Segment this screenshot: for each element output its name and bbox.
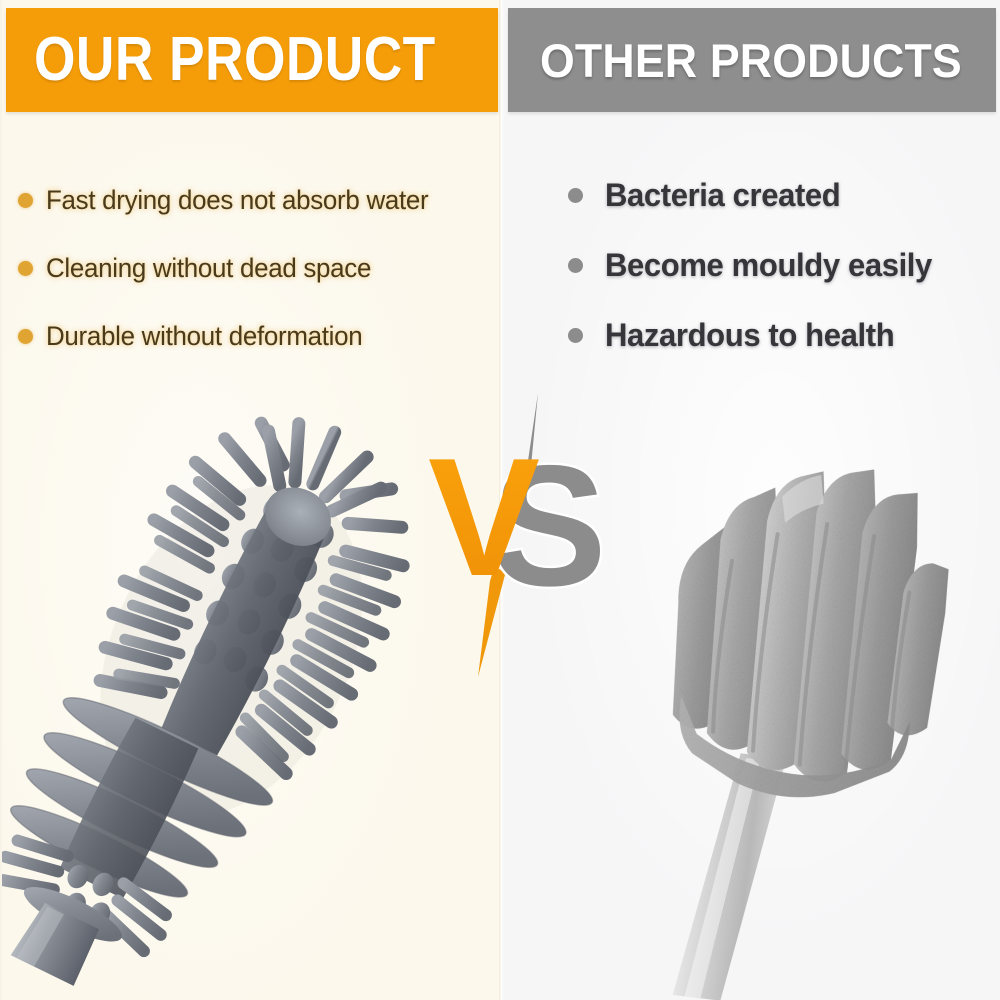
drawback-item: Bacteria created — [568, 160, 988, 230]
drawback-label: Hazardous to health — [605, 317, 894, 354]
other-products-title: OTHER PRODUCTS — [540, 37, 962, 84]
bullet-dot-icon — [18, 193, 33, 208]
feature-item: Cleaning without dead space — [18, 234, 498, 302]
drawback-item: Become mouldy easily — [568, 230, 988, 300]
bullet-dot-icon — [568, 258, 583, 273]
comparison-infographic: S V OUR PRODUCT OTHER PRODUCTS Fast dryi… — [0, 0, 1000, 1000]
bullet-dot-icon — [18, 261, 33, 276]
feature-label: Cleaning without dead space — [46, 253, 371, 284]
feature-item: Durable without deformation — [18, 302, 498, 370]
bullet-dot-icon — [568, 188, 583, 203]
drawback-label: Become mouldy easily — [605, 247, 932, 284]
other-products-header: OTHER PRODUCTS — [508, 8, 996, 112]
other-products-drawback-list: Bacteria created Become mouldy easily Ha… — [568, 160, 988, 370]
panel-divider — [499, 0, 504, 1000]
bullet-dot-icon — [18, 329, 33, 344]
silicone-brush-image — [0, 395, 440, 1000]
our-product-feature-list: Fast drying does not absorb water Cleani… — [18, 166, 498, 370]
drawback-item: Hazardous to health — [568, 300, 988, 370]
feature-label: Fast drying does not absorb water — [46, 185, 428, 216]
sponge-brush-image — [600, 430, 1000, 1000]
bullet-dot-icon — [568, 328, 583, 343]
feature-item: Fast drying does not absorb water — [18, 166, 498, 234]
our-product-title: OUR PRODUCT — [34, 29, 436, 91]
feature-label: Durable without deformation — [46, 321, 362, 352]
our-product-header: OUR PRODUCT — [6, 8, 498, 112]
drawback-label: Bacteria created — [605, 177, 840, 214]
